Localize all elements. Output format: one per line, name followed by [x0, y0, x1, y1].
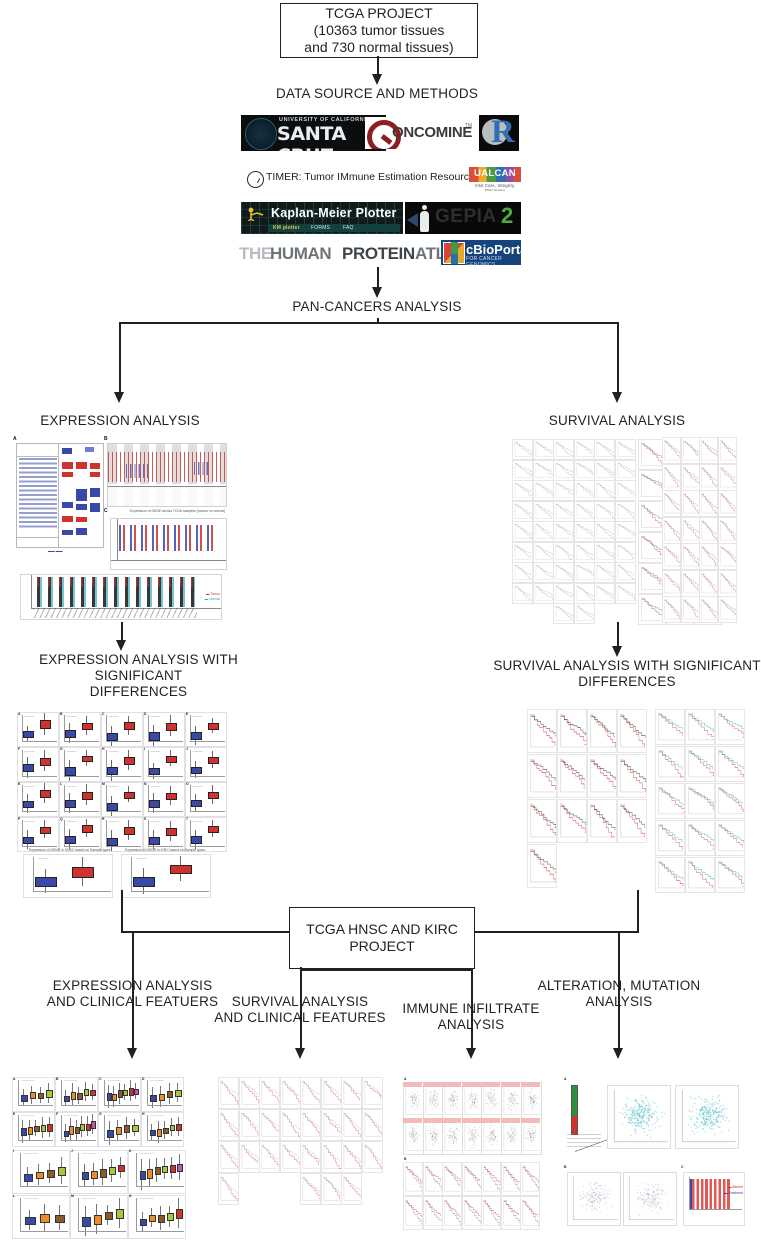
database-logos: UNIVERSITY OF CALIFORNIA SANTA CRUZ ONCO…	[237, 112, 521, 270]
km-mini-plot	[587, 799, 617, 843]
km-mini-plot	[321, 1109, 342, 1141]
caption: ————	[107, 1113, 121, 1117]
scatter-mini	[423, 1118, 444, 1155]
boxplot-mini: ———	[143, 782, 185, 817]
box	[118, 1165, 125, 1173]
km-mini-plot	[594, 480, 615, 501]
box	[100, 1169, 107, 1178]
box	[36, 1172, 44, 1180]
km-mini-plot	[685, 709, 715, 745]
box	[166, 723, 177, 731]
caption: ————	[82, 1151, 96, 1155]
scatter-mini	[481, 1118, 502, 1155]
caption: ————	[140, 1151, 154, 1155]
box	[40, 790, 51, 798]
km-mini-plot	[615, 521, 636, 542]
axis	[104, 1105, 139, 1106]
panel-letter: A	[13, 1077, 15, 1081]
arrowhead-survival-analysis	[612, 392, 622, 403]
box	[40, 758, 51, 766]
km-mini-plot	[699, 490, 718, 517]
km-mini-plot	[594, 460, 615, 481]
panel-letter: C	[681, 1165, 683, 1169]
ualcan-logo-subtext: Visit Care, Integrity, Discovery	[469, 183, 521, 191]
axis	[104, 1140, 139, 1141]
panel-letter: G	[60, 747, 63, 751]
scatter-header	[501, 1082, 520, 1087]
clinical-boxplot-mini: ————	[12, 1195, 70, 1239]
km-mini-plot	[512, 562, 533, 583]
km-mini-plot	[655, 820, 685, 856]
axis	[148, 820, 149, 846]
gepia-person-icon	[419, 205, 430, 233]
box	[149, 768, 160, 775]
km-mini-plot	[300, 1109, 321, 1141]
axis	[33, 891, 111, 892]
axis	[18, 1140, 53, 1141]
km-mini-plot	[553, 583, 574, 604]
box	[91, 1171, 98, 1179]
panel-letter: K	[18, 782, 20, 786]
panel-letter: A	[404, 1077, 406, 1081]
panel-letter: C	[99, 1077, 101, 1081]
scatter-header	[521, 1082, 540, 1087]
km-mini-plot	[574, 460, 595, 481]
km-tab-forms: FORMS	[311, 225, 330, 231]
km-mini-plot	[615, 480, 636, 501]
axis	[20, 1153, 21, 1186]
caption: ———	[108, 784, 118, 788]
axis	[106, 820, 107, 846]
boxplot-mini: ———	[121, 854, 211, 898]
scatter-mini	[403, 1118, 424, 1155]
km-mini-plot	[533, 460, 554, 481]
km-mini-plot	[718, 543, 737, 570]
box	[82, 723, 93, 731]
boxplot-mini: ———	[59, 782, 101, 817]
km-mini-plot	[715, 857, 745, 893]
axis	[61, 1105, 96, 1106]
gepia-logo-text: GEPIA	[435, 206, 497, 228]
km-mini-plot	[699, 517, 718, 544]
km-mini-plot	[594, 583, 615, 604]
scatter-header	[462, 1082, 481, 1087]
km-mini-plot	[527, 709, 557, 753]
box	[166, 756, 177, 763]
axis	[22, 750, 23, 776]
boxplot-mini: ———	[143, 817, 185, 852]
box	[191, 732, 202, 740]
caption: ———	[24, 819, 34, 823]
clinical-boxplot-mini: ————	[12, 1112, 55, 1147]
box	[84, 1089, 90, 1096]
axis	[18, 1115, 19, 1141]
km-mini-plot	[574, 439, 595, 460]
gepia-wedge-icon	[407, 213, 418, 227]
cbioportal-logo-subtext: FOR CANCER GENOMICS	[466, 256, 521, 265]
connector-to-survival	[617, 322, 619, 394]
box	[40, 1214, 50, 1223]
axis	[106, 741, 141, 742]
axis	[22, 715, 23, 741]
axis	[78, 1186, 126, 1187]
box	[64, 1131, 69, 1137]
km-mini-plot	[662, 517, 681, 544]
km-mini-plot	[718, 570, 737, 597]
km-mini-plot	[615, 583, 636, 604]
km-mini-plot	[655, 783, 685, 819]
km-mini-plot	[553, 562, 574, 583]
clinical-boxplot-mini: ————	[70, 1195, 128, 1239]
scatter-header	[442, 1118, 461, 1123]
box	[82, 825, 93, 832]
node-expression-significant-label: EXPRESSION ANALYSIS WITH SIGNIFICANT DIF…	[0, 652, 280, 700]
arrowhead-datasource	[372, 74, 382, 85]
km-mini-plot	[553, 501, 574, 522]
scatter-mini	[442, 1082, 463, 1119]
arrowhead-alteration-mutation	[613, 1048, 623, 1059]
km-mini-plot	[699, 543, 718, 570]
axis	[22, 820, 23, 846]
axis	[61, 1140, 96, 1141]
caption: ————	[140, 1196, 154, 1200]
box	[155, 1167, 161, 1175]
oncomine-logo: ONCOMINE TM	[365, 117, 473, 149]
km-mini-plot	[715, 820, 745, 856]
km-mini-plot	[533, 439, 554, 460]
box	[47, 1170, 55, 1177]
arrowhead-survival-significant	[612, 646, 622, 657]
box	[132, 1125, 139, 1132]
panel-letter-b: B	[104, 436, 108, 442]
km-mini-plot	[341, 1173, 362, 1205]
axis	[64, 846, 99, 847]
boxplot-mini: ———	[17, 747, 59, 782]
caption: ————	[64, 1078, 78, 1082]
boxplot-mini: ———	[101, 712, 143, 747]
panel-letter: S	[144, 817, 146, 821]
scatter-mini	[675, 1085, 739, 1149]
axis	[64, 750, 65, 776]
km-mini-plot	[681, 437, 700, 464]
km-mini-plot	[715, 783, 745, 819]
km-mini-plot	[442, 1196, 462, 1230]
axis	[106, 846, 141, 847]
km-mini-plot	[594, 562, 615, 583]
box	[107, 1093, 112, 1101]
boxplot-mini: ———	[59, 747, 101, 782]
panel-letter: J	[186, 747, 188, 751]
km-mini-plot	[615, 460, 636, 481]
box	[21, 1095, 28, 1101]
node-data-source-label: DATA SOURCE AND METHODS	[197, 86, 557, 102]
connector-survival-to-significant	[617, 622, 619, 649]
km-mini-plot	[699, 570, 718, 597]
box	[170, 1165, 176, 1173]
axis	[190, 776, 225, 777]
box	[65, 730, 76, 738]
r-project-logo-text: R	[491, 115, 515, 150]
expression-violin-strip: ▬ Tumor ▬ Normal	[20, 574, 222, 620]
boxplot-mini: ———	[143, 747, 185, 782]
km-mini-plot	[403, 1196, 423, 1230]
clinical-boxplot-mini: ————	[141, 1112, 184, 1147]
caption: ————	[82, 1196, 96, 1200]
km-mini-plot	[280, 1077, 301, 1109]
boxplot-mini: ———	[185, 817, 227, 852]
box	[25, 1217, 35, 1224]
box	[167, 1213, 174, 1221]
axis	[64, 811, 99, 812]
box	[208, 757, 219, 764]
km-mini-plot	[259, 1141, 280, 1173]
axis	[148, 785, 149, 811]
axis	[148, 776, 183, 777]
figure-alteration-mutation: ABC▬ Altered▬ Unaltered	[563, 1077, 749, 1235]
box	[149, 837, 160, 845]
expression-dotplot-b	[107, 443, 227, 507]
boxplot-mini: ———	[17, 712, 59, 747]
box	[124, 722, 135, 730]
axis	[64, 776, 99, 777]
caption: ————	[150, 1078, 164, 1082]
km-mini-plot	[685, 820, 715, 856]
km-mini-plot	[553, 521, 574, 542]
scatter-header	[481, 1118, 500, 1123]
km-mini-plot	[594, 542, 615, 563]
box	[23, 764, 34, 772]
box	[208, 792, 219, 800]
km-mini-plot	[462, 1162, 482, 1196]
box	[72, 867, 93, 877]
axis	[106, 715, 107, 741]
box	[24, 1174, 32, 1181]
axis	[147, 1115, 148, 1141]
box	[107, 803, 118, 811]
km-mini-plot	[617, 709, 647, 753]
box	[107, 838, 118, 846]
km-mini-plot	[341, 1077, 362, 1109]
caption: Expression of GENE in HNSC based on Samp…	[29, 848, 111, 852]
axis	[190, 785, 191, 811]
scatter-mini	[567, 1172, 621, 1226]
axis	[190, 741, 225, 742]
axis	[22, 776, 57, 777]
box	[149, 800, 160, 808]
caption: ———	[24, 784, 34, 788]
axis	[20, 1231, 68, 1232]
gepia-version-number: 2	[501, 203, 513, 229]
km-mini-plot	[574, 542, 595, 563]
km-mini-plot	[662, 437, 681, 464]
axis	[131, 891, 209, 892]
panel-letter: R	[102, 817, 104, 821]
kaplan-meier-plotter-logo: Kaplan-Meier Plotter KM plotter FORMS FA…	[241, 202, 403, 234]
km-mini-plot	[594, 439, 615, 460]
box	[23, 837, 34, 844]
box	[107, 1130, 114, 1138]
box	[162, 1166, 168, 1174]
clinical-boxplot-mini: ————	[128, 1195, 186, 1239]
caption: ———	[150, 784, 160, 788]
scatter-header	[481, 1082, 500, 1087]
km-mini-plot	[512, 480, 533, 501]
km-mini-plot	[442, 1162, 462, 1196]
axis	[78, 1231, 126, 1232]
panel-letter: C	[102, 712, 104, 716]
axis	[106, 785, 107, 811]
bar-blue	[690, 1179, 692, 1209]
box	[23, 801, 34, 809]
panel-letter: E	[186, 712, 188, 716]
box	[208, 826, 219, 833]
axis	[61, 1080, 62, 1106]
clinical-boxplot-mini: ————	[55, 1077, 98, 1112]
expression-heatmap-table	[16, 443, 60, 548]
km-mini-plot	[662, 543, 681, 570]
panel-letter-a: A	[13, 436, 17, 442]
km-mini-plot	[553, 460, 574, 481]
scatter-mini	[442, 1118, 463, 1155]
axis	[136, 1186, 184, 1187]
km-mini-plot	[662, 570, 681, 597]
km-mini-plot	[321, 1173, 342, 1205]
node-survival-clinical-label: SURVIVAL ANALYSIS AND CLINICAL FEATURES	[205, 994, 395, 1026]
km-mini-plot	[615, 542, 636, 563]
km-mini-plot	[681, 596, 700, 623]
caption: Expression of GENE in KIRC based on Samp…	[125, 848, 205, 852]
km-mini-plot	[533, 501, 554, 522]
box	[40, 827, 51, 834]
km-mini-plot	[512, 439, 533, 460]
axis	[148, 715, 149, 741]
axis	[33, 857, 34, 891]
scatter-header	[501, 1118, 520, 1123]
clinical-boxplot-mini: ————	[128, 1150, 186, 1194]
connector-hnsc-lower-bus	[300, 969, 472, 971]
panel-letter: G	[99, 1112, 102, 1116]
box	[147, 1169, 153, 1178]
axis	[136, 1153, 137, 1186]
km-mini-plot	[617, 799, 647, 843]
connector-hnsc-bus-left	[121, 931, 291, 933]
km-mini-plot	[615, 501, 636, 522]
km-mini-plot	[512, 521, 533, 542]
km-mini-plot	[587, 709, 617, 753]
km-mini-plot	[341, 1141, 362, 1173]
panel-c-title: Expression of GENE across TCGA samples (…	[130, 509, 225, 513]
box	[176, 1124, 182, 1131]
panel-letter: J	[71, 1149, 73, 1153]
box	[34, 1126, 40, 1132]
box	[35, 877, 56, 886]
panel-letter: I	[13, 1149, 14, 1153]
arrowhead-expression-significant	[116, 640, 126, 651]
km-mini-plot	[512, 583, 533, 604]
km-mini-plot	[300, 1077, 321, 1109]
boxplot-mini: ———	[185, 782, 227, 817]
ualcan-logo-text: UALCAN	[469, 168, 521, 179]
km-mini-plot	[533, 480, 554, 501]
r-project-logo: R	[479, 115, 519, 151]
boxplot-mini: ———	[17, 782, 59, 817]
box	[47, 1124, 53, 1131]
panel-letter: D	[142, 1077, 144, 1081]
clinical-boxplot-mini: ————	[98, 1077, 141, 1112]
km-mini-plot	[699, 596, 718, 623]
caption: ————	[150, 1113, 164, 1117]
scatter-mini	[623, 1172, 677, 1226]
km-mini-plot	[512, 460, 533, 481]
axis	[20, 1186, 68, 1187]
box	[28, 1127, 34, 1134]
box	[149, 732, 160, 740]
km-mini-plot	[259, 1109, 280, 1141]
km-mini-plot	[557, 799, 587, 843]
box	[65, 767, 76, 775]
box	[109, 1167, 116, 1175]
km-tab-kmplotter: KM plotter	[273, 225, 300, 231]
scatter-header	[462, 1118, 481, 1123]
caption: ———	[136, 856, 146, 860]
box	[82, 756, 93, 763]
cbioportal-square-icon	[443, 242, 465, 264]
hpa-word-human: HUMAN	[270, 244, 331, 264]
box	[55, 1215, 65, 1224]
boxplot-mini: ———	[59, 712, 101, 747]
km-mini-plot	[574, 480, 595, 501]
scatter-mini	[501, 1082, 522, 1119]
km-mini-plot	[501, 1196, 521, 1230]
km-mini-plot	[699, 464, 718, 491]
oncomine-logo-text: ONCOMINE	[392, 124, 472, 141]
km-mini-plot	[615, 562, 636, 583]
km-mini-plot	[553, 439, 574, 460]
km-mini-plot	[403, 1162, 423, 1196]
km-mini-plot	[362, 1109, 383, 1141]
km-mini-plot	[321, 1141, 342, 1173]
clinical-boxplot-mini: ————	[12, 1077, 55, 1112]
expression-boxplot-c	[110, 518, 227, 570]
scatter-mini	[423, 1082, 444, 1119]
box	[150, 1095, 157, 1103]
panel-letter: B	[56, 1077, 58, 1081]
axis	[22, 785, 23, 811]
km-mini-plot	[321, 1077, 342, 1109]
panel-letter-c: C	[104, 508, 108, 514]
caption: ———	[108, 819, 118, 823]
expression-heatmap-legend: ▬▬ ▬▬	[48, 549, 63, 553]
km-mini-plot	[520, 1162, 540, 1196]
axis	[147, 1140, 182, 1141]
boxplot-mini: ———	[143, 712, 185, 747]
boxplot-mini: ———	[185, 712, 227, 747]
axis	[131, 857, 132, 891]
km-mini-plot	[423, 1196, 443, 1230]
km-mini-plot	[681, 517, 700, 544]
figure-survival-clinical	[218, 1077, 388, 1235]
connector-tcga-to-datasource	[377, 56, 379, 76]
node-hnsc-kirc-project: TCGA HNSC AND KIRC PROJECT	[289, 907, 475, 969]
boxplot-mini: ———	[185, 747, 227, 782]
box	[124, 827, 135, 835]
cbioportal-logo: cBioPortal FOR CANCER GENOMICS	[441, 240, 521, 265]
connector-expression-to-significant	[121, 622, 123, 642]
scatter-header	[403, 1082, 422, 1087]
box	[167, 1091, 174, 1099]
km-mini-plot	[481, 1196, 501, 1230]
panel-letter: E	[13, 1112, 15, 1116]
